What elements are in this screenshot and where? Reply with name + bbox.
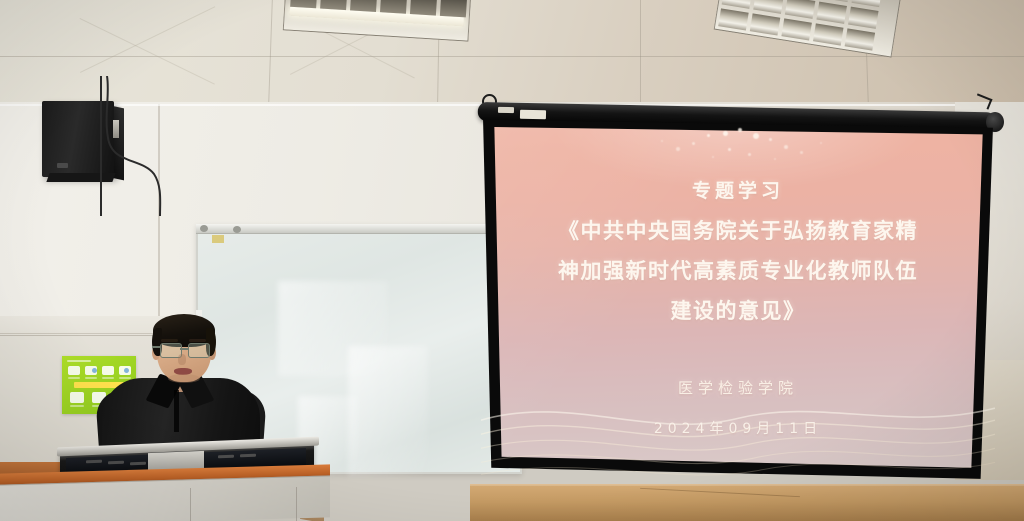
poster-title-line [67,360,91,362]
slide-title-line-2: 神加强新时代高素质专业化教师队伍 [558,255,918,285]
light-louver [380,0,408,14]
slide-heading: 专题学习 [692,176,784,203]
slide-date: 2024年09月11日 [654,418,822,438]
whiteboard-clip [200,225,208,232]
ceiling-tile-line [0,56,1024,57]
poster-caption-line [68,377,80,379]
slide-title-line-1: 《中共中央国务院关于弘扬教育家精 [558,215,918,245]
lectern-panel-seam [190,488,191,521]
light-louver [320,0,348,10]
whiteboard-glare [348,346,428,476]
light-louver [350,0,378,12]
slide-organization: 医学检验学院 [678,377,798,398]
glasses-lens [188,343,210,358]
presenter-eyebrow [161,339,178,342]
presenter-nose [178,354,186,365]
speaker-cable [100,76,172,216]
glasses-bridge [180,348,188,350]
lectern-body [0,475,330,521]
wall-speaker-badge [57,163,68,168]
whiteboard-clip [233,226,241,233]
presenter-chin [168,374,200,383]
presenter-shirt-placket [174,390,179,432]
desk [470,486,1024,521]
slide-content: 专题学习 《中共中央国务院关于弘扬教育家精 神加强新时代高素质专业化教师队伍 建… [481,116,995,484]
whiteboard-sticky-note [212,235,224,243]
poster-caption-line [70,405,84,407]
lectern-panel-seam [296,487,297,521]
light-louver [410,0,438,16]
whiteboard-top-rail [196,224,518,234]
slide-title-line-3: 建设的意见》 [671,295,806,325]
projection-screen[interactable]: 专题学习 《中共中央国务院关于弘扬教育家精 神加强新时代高素质专业化教师队伍 建… [481,116,995,484]
presenter-eyebrow [189,339,206,342]
classroom-photo: 专题学习 《中共中央国务院关于弘扬教育家精 神加强新时代高素质专业化教师队伍 建… [0,0,1024,521]
ceiling-tile-line [640,0,641,104]
poster-cell [68,366,80,375]
screen-roller-tag [498,107,514,113]
poster-cell [70,392,84,403]
light-louver [440,0,468,17]
